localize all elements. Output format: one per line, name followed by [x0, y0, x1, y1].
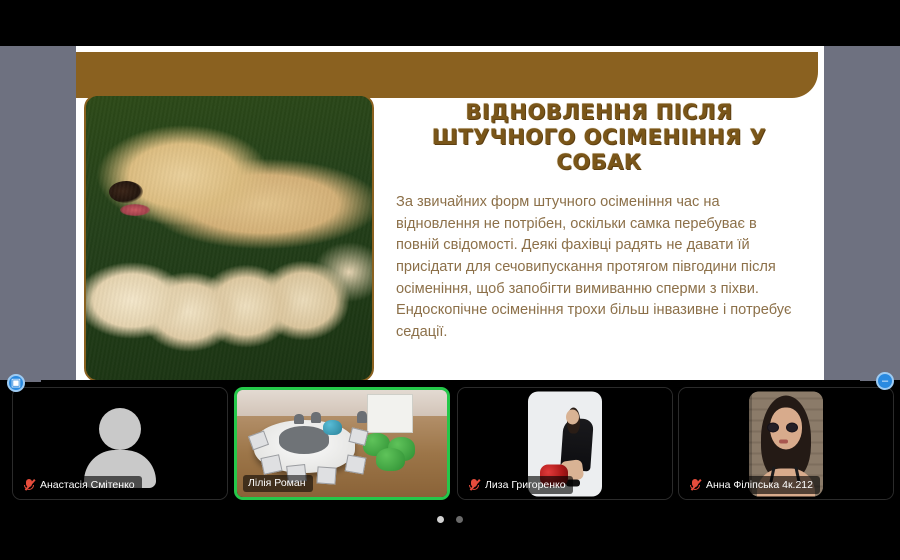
presentation-slide[interactable]: ВІДНОВЛЕННЯ ПІСЛЯ ШТУЧНОГО ОСІМЕНІННЯ У … — [76, 46, 824, 380]
share-gutter-left — [0, 46, 76, 380]
classroom-person — [311, 412, 322, 423]
classroom-table-inner — [279, 426, 329, 454]
sunglasses-lens-left-icon — [767, 423, 779, 433]
filmstrip-pagination — [0, 508, 900, 530]
dog-muzzle — [109, 181, 143, 203]
classroom-chair — [261, 455, 283, 476]
classroom-chair — [316, 466, 336, 484]
mic-muted-icon — [24, 478, 35, 491]
mic-muted-icon — [690, 478, 701, 491]
participant-tile[interactable]: Лілія Роман — [234, 387, 450, 500]
classroom-person — [357, 411, 368, 423]
bean-bag — [376, 448, 405, 472]
participant-filmstrip: Анастасія Смітенко — [0, 384, 900, 504]
mic-muted-icon — [469, 478, 480, 491]
participant-tile[interactable]: Лиза Григоренко — [457, 387, 673, 500]
classroom-chair — [345, 455, 367, 475]
participant-name: Лиза Григоренко — [485, 479, 566, 491]
participant-tile[interactable]: Анна Філіпська 4к.212 — [678, 387, 894, 500]
collapse-minus-icon[interactable]: – — [876, 372, 894, 390]
participant-name: Анастасія Смітенко — [40, 479, 135, 491]
annotate-badge-icon[interactable]: ▣ — [7, 374, 25, 392]
classroom-person — [294, 414, 305, 425]
page-dot-1[interactable] — [437, 516, 444, 523]
share-gutter-right — [824, 46, 900, 380]
slide-title: ВІДНОВЛЕННЯ ПІСЛЯ ШТУЧНОГО ОСІМЕНІННЯ У … — [396, 100, 802, 174]
participant-tile[interactable]: Анастасія Смітенко — [12, 387, 228, 500]
sunglasses-lens-right-icon — [786, 423, 798, 433]
participant-name: Анна Філіпська 4к.212 — [706, 479, 813, 491]
classroom-whiteboard — [367, 394, 413, 433]
participant-name-badge: Анна Філіпська 4к.212 — [685, 476, 820, 494]
slide-photo-card — [84, 94, 374, 380]
dog-with-puppies-photo — [86, 96, 372, 380]
slide-text-column: ВІДНОВЛЕННЯ ПІСЛЯ ШТУЧНОГО ОСІМЕНІННЯ У … — [386, 94, 816, 380]
classroom-wall — [237, 390, 447, 416]
participant-name-badge: Лілія Роман — [243, 475, 313, 492]
bean-bag — [323, 420, 342, 435]
dog-tongue — [120, 204, 150, 216]
page-dot-2[interactable] — [456, 516, 463, 523]
slide-header-bar — [76, 52, 818, 98]
photo-subject-lips — [779, 439, 788, 443]
participant-name-badge: Лиза Григоренко — [464, 476, 573, 494]
participant-name: Лілія Роман — [248, 477, 306, 489]
participant-name-badge: Анастасія Смітенко — [19, 476, 142, 494]
zoom-meeting-window: ВІДНОВЛЕННЯ ПІСЛЯ ШТУЧНОГО ОСІМЕНІННЯ У … — [0, 0, 900, 560]
avatar-head-icon — [99, 408, 141, 450]
shared-screen-region[interactable]: ВІДНОВЛЕННЯ ПІСЛЯ ШТУЧНОГО ОСІМЕНІННЯ У … — [0, 46, 900, 380]
slide-body-text: За звичайних форм штучного осіменіння ча… — [396, 192, 802, 343]
